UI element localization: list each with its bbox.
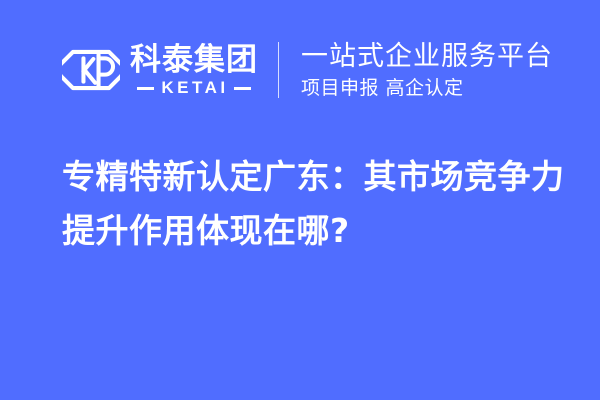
brand-wordmark: 科泰集团 KETAI [130,39,258,101]
brand-name-en: KETAI [154,79,233,97]
header-tagline: 一站式企业服务平台 项目申报 高企认定 [301,38,553,102]
tagline-main: 一站式企业服务平台 [301,41,553,73]
banner-header: 科泰集团 KETAI 一站式企业服务平台 项目申报 高企认定 [0,0,600,140]
page-title-line-2: 提升作用体现在哪? [62,204,562,258]
brand-name-en-row: KETAI [130,79,258,97]
page-title-line-1: 专精特新认定广东：其市场竞争力 [62,150,562,204]
brand-dash-left-icon [137,87,154,90]
tagline-sub: 项目申报 高企认定 [301,76,553,100]
brand-dash-right-icon [234,87,251,90]
banner-title: 专精特新认定广东：其市场竞争力 提升作用体现在哪? [62,150,562,258]
promo-banner: 科泰集团 KETAI 一站式企业服务平台 项目申报 高企认定 专精特新认定广东：… [0,0,600,400]
brand-name-cn: 科泰集团 [130,43,258,77]
ketai-diamond-monogram-icon [62,41,120,99]
brand-logo[interactable]: 科泰集团 KETAI [62,38,258,102]
header-divider [278,42,279,98]
